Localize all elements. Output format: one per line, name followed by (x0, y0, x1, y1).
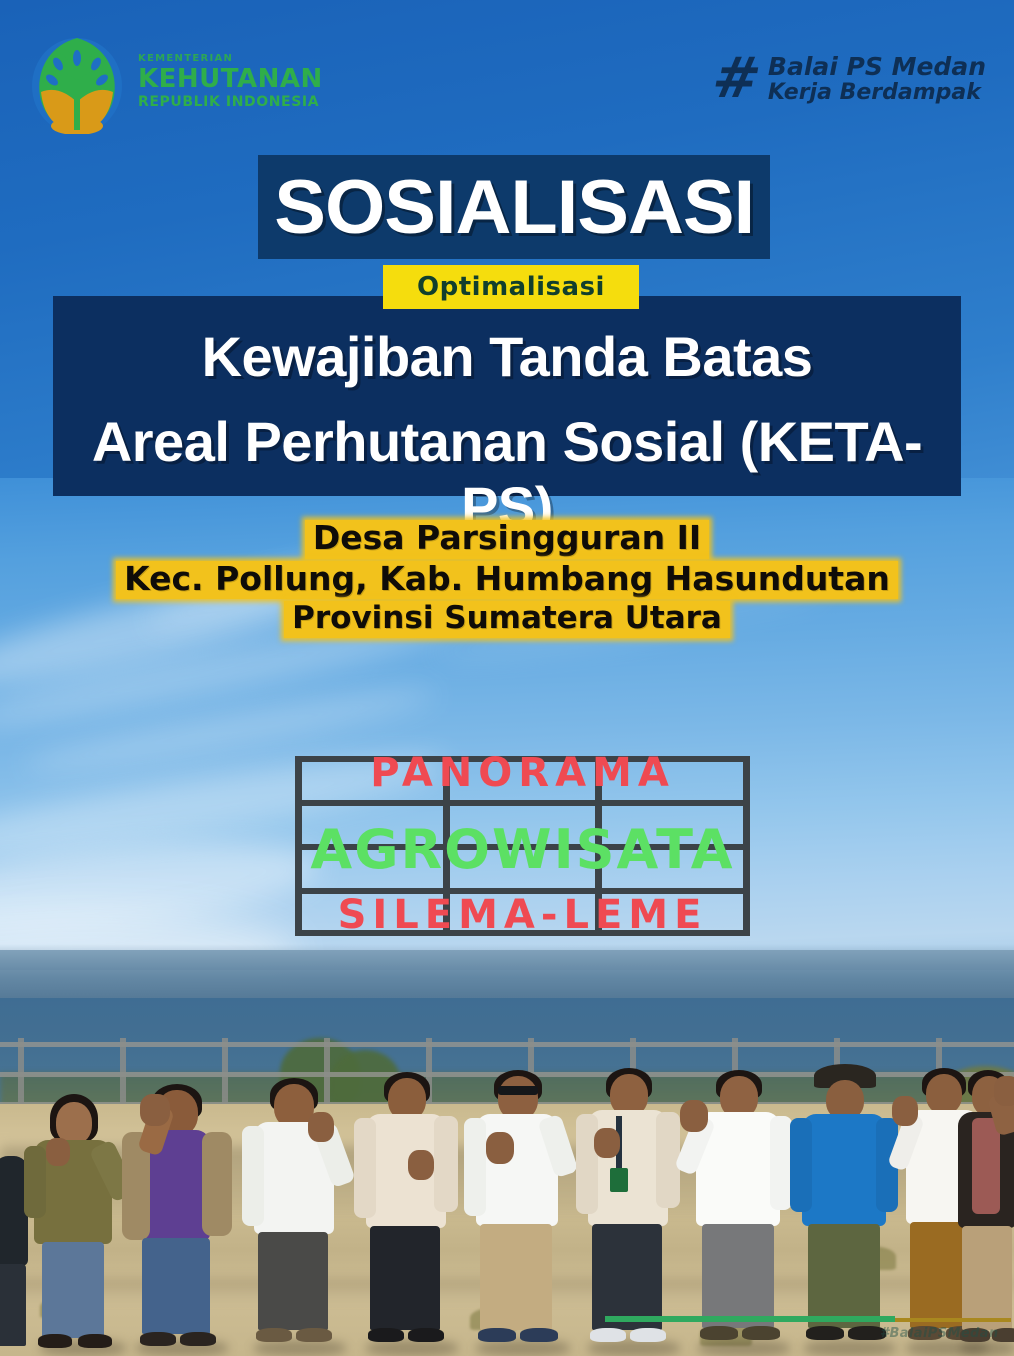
balai-ps-medan-logo: # Balai PS Medan Kerja Berdampak (713, 48, 986, 110)
agrowisata-sign: PANORAMA AGROWISATA SILEMA-LEME (295, 756, 750, 936)
optimalisasi-label: Optimalisasi (417, 272, 605, 302)
tree-emblem-icon (28, 34, 126, 134)
page-title: SOSIALISASI (274, 164, 754, 251)
person (462, 1070, 574, 1356)
sign-text-middle: AGROWISATA (295, 818, 750, 881)
footer-watermark: #BalaiPSMedan (880, 1326, 999, 1341)
subtitle-line-1: Kewajiban Tanda Batas (53, 324, 961, 389)
logo-line-kementerian: KEMENTERIAN (138, 54, 323, 64)
balai-logo-text: Balai PS Medan Kerja Berdampak (768, 53, 986, 106)
poster-canvas: PANORAMA AGROWISATA SILEMA-LEME (0, 0, 1014, 1356)
location-block: Desa Parsingguran II Kec. Pollung, Kab. … (0, 518, 1014, 640)
location-line-3: Provinsi Sumatera Utara (284, 601, 730, 638)
location-line-2: Kec. Pollung, Kab. Humbang Hasundutan (116, 561, 898, 600)
headline-band: SOSIALISASI (258, 155, 770, 259)
ministry-logo-text: KEMENTERIAN KEHUTANAN REPUBLIK INDONESIA (138, 54, 323, 109)
subtitle-band: Kewajiban Tanda Batas Areal Perhutanan S… (53, 296, 961, 496)
footer-rule-gold (895, 1318, 1011, 1322)
balai-line-2: Kerja Berdampak (768, 81, 986, 106)
ministry-logo: KEMENTERIAN KEHUTANAN REPUBLIK INDONESIA (28, 34, 328, 134)
sign-text-bottom: SILEMA-LEME (295, 892, 750, 938)
sunglasses-icon (498, 1086, 538, 1095)
person (790, 1066, 900, 1356)
group-of-participants (0, 1074, 1014, 1356)
location-line-1: Desa Parsingguran II (305, 520, 709, 559)
person (684, 1070, 794, 1356)
person (956, 1070, 1014, 1356)
person (22, 1094, 132, 1356)
person (352, 1072, 462, 1356)
hashtag-icon: # (709, 54, 765, 104)
logo-line-republik: REPUBLIK INDONESIA (138, 95, 323, 109)
balai-line-1: Balai PS Medan (768, 53, 986, 81)
person (574, 1068, 684, 1356)
logo-line-kehutanan: KEHUTANAN (138, 66, 323, 92)
person (118, 1084, 238, 1356)
footer-rule-green (605, 1316, 895, 1322)
sign-text-top: PANORAMA (295, 750, 750, 796)
person (240, 1078, 350, 1356)
optimalisasi-chip: Optimalisasi (383, 265, 639, 309)
id-badge (610, 1168, 628, 1192)
